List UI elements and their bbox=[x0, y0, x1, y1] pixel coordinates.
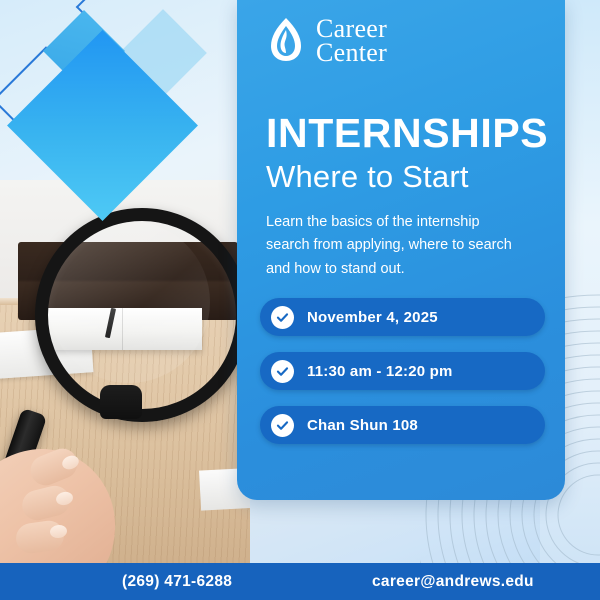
flame-lamp-icon bbox=[267, 17, 305, 65]
page-subtitle: Where to Start bbox=[266, 161, 469, 192]
magnifier-ring bbox=[35, 208, 249, 422]
page-title: INTERNSHIPS bbox=[266, 113, 548, 154]
contact-phone[interactable]: (269) 471-6288 bbox=[122, 573, 232, 591]
flyer-canvas: Career Center INTERNSHIPS Where to Start… bbox=[0, 0, 600, 600]
brand-name: Career Center bbox=[316, 17, 387, 65]
detail-label-time: 11:30 am - 12:20 pm bbox=[307, 363, 453, 380]
contact-email[interactable]: career@andrews.edu bbox=[372, 573, 534, 591]
contact-footer: (269) 471-6288 career@andrews.edu bbox=[0, 563, 600, 600]
detail-label-location: Chan Shun 108 bbox=[307, 417, 418, 434]
detail-label-date: November 4, 2025 bbox=[307, 309, 438, 326]
check-circle-icon bbox=[271, 360, 294, 383]
event-description: Learn the basics of the internship searc… bbox=[266, 211, 524, 281]
magnifier-neck bbox=[100, 385, 142, 419]
detail-pill-time: 11:30 am - 12:20 pm bbox=[260, 352, 545, 390]
event-details-list: November 4, 2025 11:30 am - 12:20 pm Cha… bbox=[260, 298, 545, 460]
magnifying-glass-photo bbox=[0, 180, 250, 580]
content-panel: Career Center INTERNSHIPS Where to Start… bbox=[237, 0, 565, 500]
check-circle-icon bbox=[271, 414, 294, 437]
brand-logo: Career Center bbox=[267, 17, 387, 65]
detail-pill-date: November 4, 2025 bbox=[260, 298, 545, 336]
check-circle-icon bbox=[271, 306, 294, 329]
detail-pill-location: Chan Shun 108 bbox=[260, 406, 545, 444]
brand-name-line2: Center bbox=[316, 41, 387, 65]
